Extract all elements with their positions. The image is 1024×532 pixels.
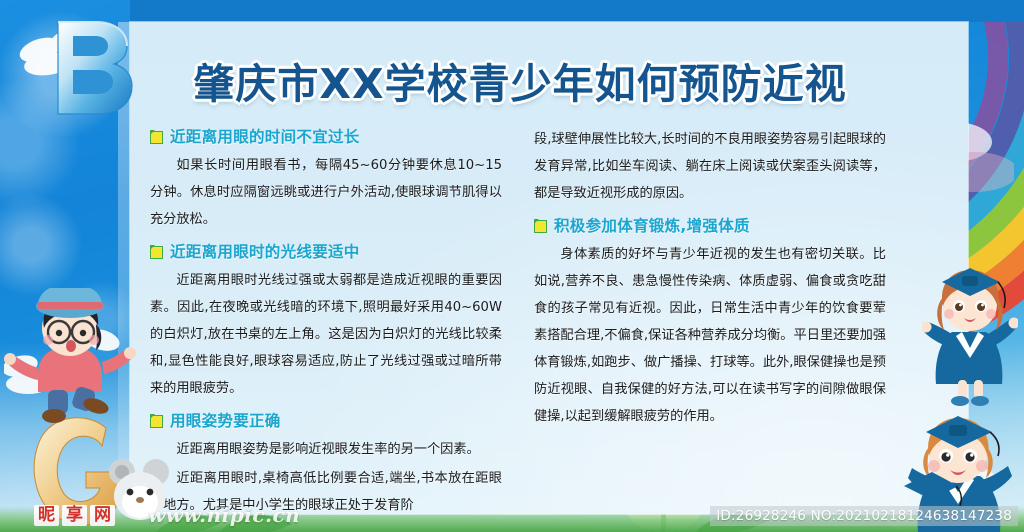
paragraph: 如果长时间用眼看书，每隔45~60分钟要休息10~15分钟。休息时应隔窗远眺或进… (150, 152, 502, 233)
section-heading: 用眼姿势要正确 (150, 410, 502, 432)
graduate-girl-figure (922, 262, 1018, 410)
section-heading-label: 用眼姿势要正确 (170, 410, 281, 432)
bullet-square-icon (150, 131, 163, 144)
watermark-logo: 昵 享 网 (34, 502, 115, 528)
left-column: 近距离用眼的时间不宜过长 如果长时间用眼看书，每隔45~60分钟要休息10~15… (150, 126, 502, 521)
paragraph: 近距离用眼姿势是影响近视眼发生率的另一个因素。 (150, 436, 502, 463)
right-column: 段,球壁伸展性比较大,长时间的不良用眼姿势容易引起眼球的发育异常,比如坐车阅读、… (534, 126, 886, 432)
bullet-square-icon (150, 246, 163, 259)
bullet-square-icon (150, 415, 163, 428)
page-title: 肇庆市XX学校青少年如何预防近视 (140, 54, 900, 114)
section-heading-label: 积极参加体育锻炼,增强体质 (554, 215, 750, 237)
section-heading: 近距离用眼的时间不宜过长 (150, 126, 502, 148)
section-heading-label: 近距离用眼的时间不宜过长 (170, 126, 360, 148)
paragraph: 身体素质的好坏与青少年近视的发生也有密切关联。比如说,营养不良、患急慢性传染病、… (534, 241, 886, 430)
section-heading: 积极参加体育锻炼,增强体质 (534, 215, 886, 237)
section-heading: 近距离用眼时的光线要适中 (150, 241, 502, 263)
paragraph: 近距离用眼时光线过强或太弱都是造成近视眼的重要因素。因此,在夜晚或光线暗的环境下… (150, 267, 502, 402)
bullet-square-icon (534, 220, 547, 233)
watermark-char: 享 (62, 505, 87, 526)
watermark-url: www.nipic.cn (148, 503, 300, 527)
watermark-char: 昵 (34, 505, 59, 526)
section-heading-label: 近距离用眼时的光线要适中 (170, 241, 360, 263)
poster-canvas: 肇庆市XX学校青少年如何预防近视 近距离用眼的时间不宜过长 如果长时间用眼看书，… (0, 0, 1024, 532)
boy-with-glasses-figure (4, 288, 136, 428)
top-accent-bar (130, 0, 1024, 22)
winged-b-logo-icon (18, 6, 148, 134)
paragraph-continuation: 段,球壁伸展性比较大,长时间的不良用眼姿势容易引起眼球的发育异常,比如坐车阅读、… (534, 126, 886, 207)
watermark-char: 网 (90, 505, 115, 526)
graduation-cap-icon (900, 470, 962, 510)
image-id-label: ID:26928246 NO:20210218124638147238 (710, 506, 1018, 526)
